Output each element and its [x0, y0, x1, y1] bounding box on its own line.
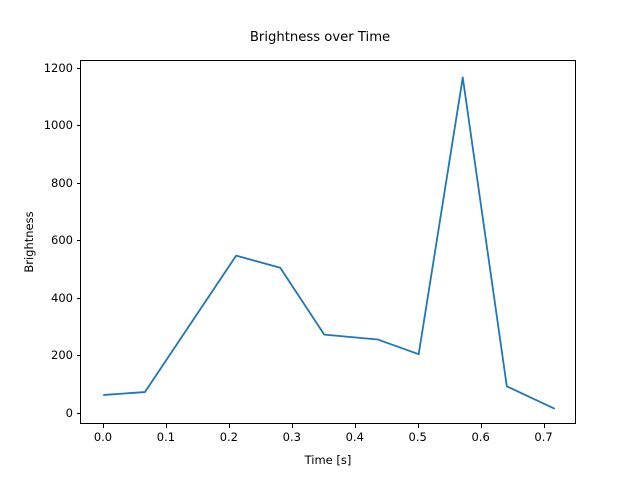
y-tick-mark — [77, 68, 81, 69]
chart-title: Brightness over Time — [0, 30, 640, 45]
y-tick-mark — [77, 240, 81, 241]
x-tick-mark — [355, 424, 356, 428]
y-tick-mark — [77, 413, 81, 414]
x-tick-label: 0.0 — [94, 430, 112, 444]
line-plot-svg — [81, 61, 577, 425]
x-tick-mark — [481, 424, 482, 428]
x-tick-label: 0.7 — [534, 430, 552, 444]
y-tick-label: 400 — [51, 291, 73, 305]
y-tick-label: 800 — [51, 176, 73, 190]
matplotlib-figure: Brightness over Time 0200400600800100012… — [0, 0, 640, 480]
plot-axes — [80, 60, 576, 424]
y-tick-label: 0 — [66, 406, 73, 420]
y-tick-mark — [77, 183, 81, 184]
x-tick-label: 0.2 — [220, 430, 238, 444]
y-tick-mark — [77, 298, 81, 299]
y-tick-label: 1200 — [44, 61, 73, 75]
y-tick-label: 1000 — [44, 118, 73, 132]
brightness-line-series — [104, 78, 554, 409]
x-tick-label: 0.4 — [346, 430, 364, 444]
y-tick-mark — [77, 125, 81, 126]
x-tick-label: 0.3 — [283, 430, 301, 444]
x-tick-label: 0.6 — [471, 430, 489, 444]
y-axis-label: Brightness — [22, 60, 40, 424]
y-tick-label: 600 — [51, 233, 73, 247]
x-tick-label: 0.5 — [409, 430, 427, 444]
x-axis-label: Time [s] — [80, 453, 576, 467]
x-tick-label: 0.1 — [157, 430, 175, 444]
x-tick-mark — [418, 424, 419, 428]
x-tick-mark — [229, 424, 230, 428]
y-tick-label: 200 — [51, 348, 73, 362]
y-tick-mark — [77, 355, 81, 356]
x-tick-mark — [103, 424, 104, 428]
x-tick-mark — [544, 424, 545, 428]
x-tick-mark — [166, 424, 167, 428]
x-tick-mark — [292, 424, 293, 428]
